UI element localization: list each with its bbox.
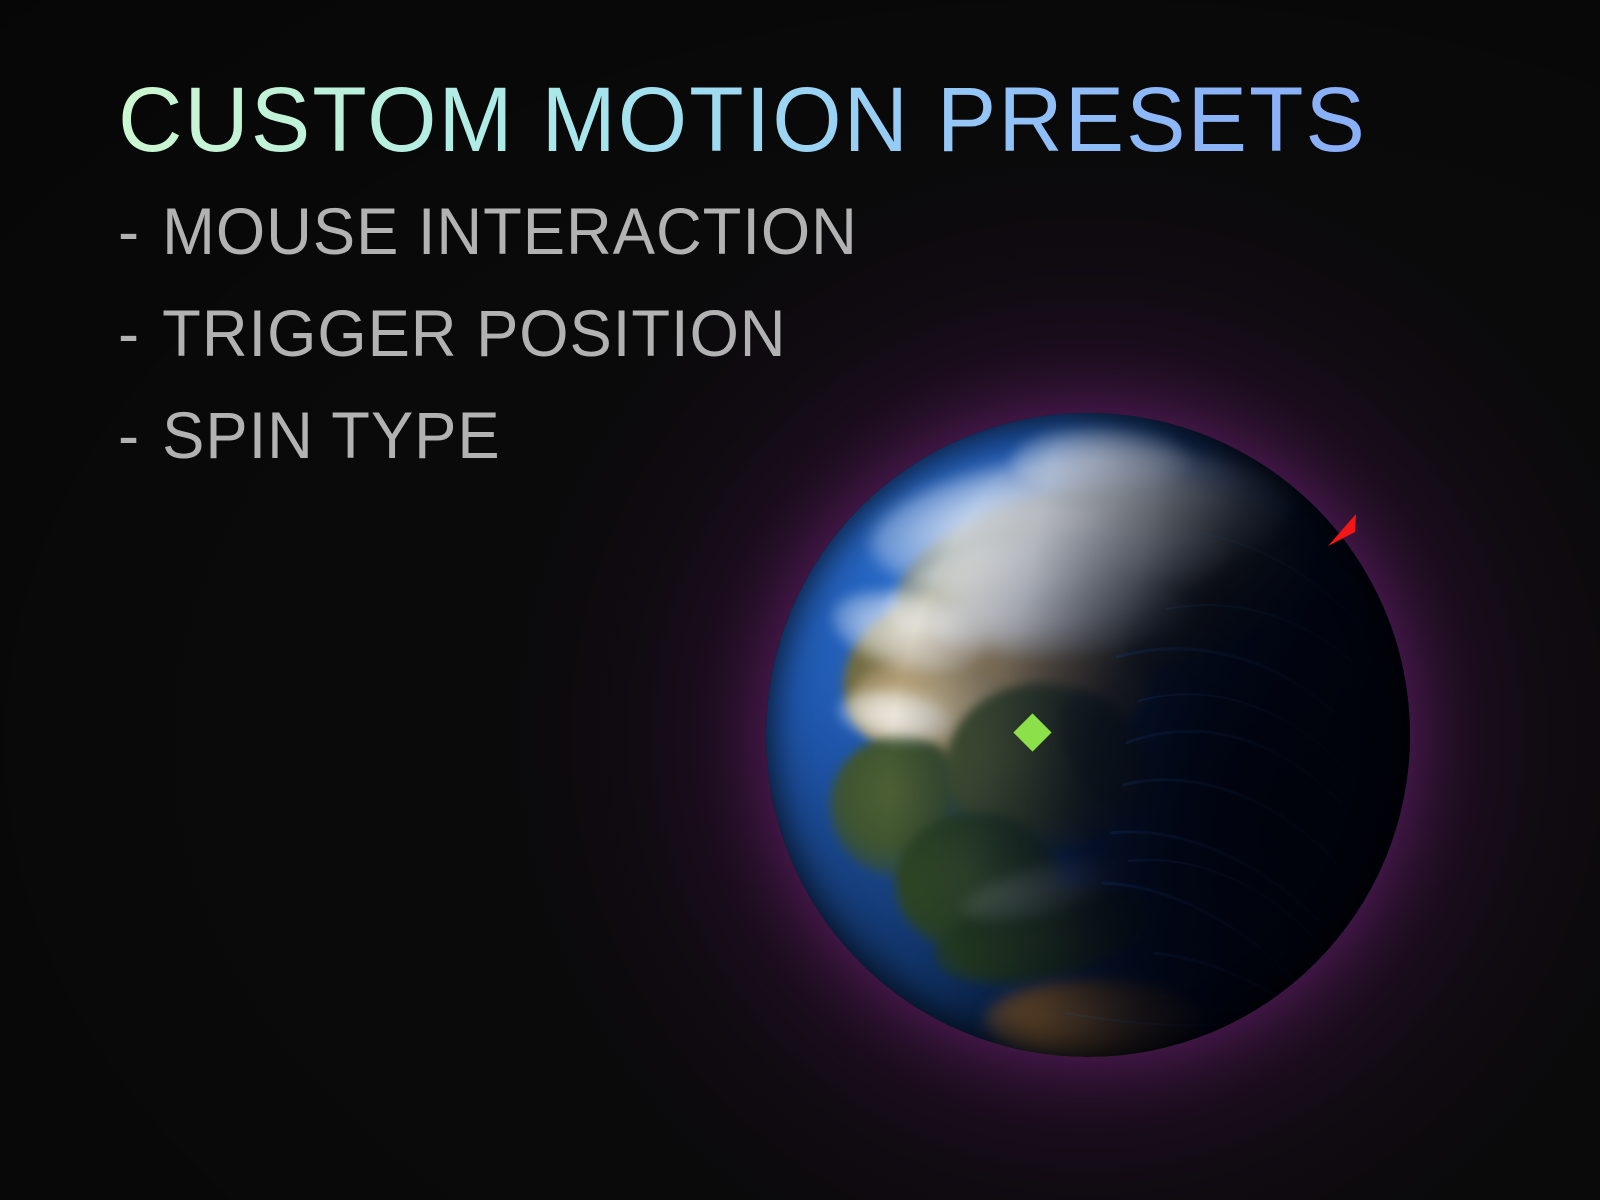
earth-globe[interactable] [766, 413, 1410, 1057]
bullet-label: MOUSE INTERACTION [162, 198, 858, 264]
list-item: - SPIN TYPE [118, 402, 1385, 468]
bullet-dash-icon: - [118, 198, 162, 264]
page-title: CUSTOM MOTION PRESETS [118, 74, 1398, 168]
globe-sphere [766, 413, 1410, 1057]
slide-text-block: CUSTOM MOTION PRESETS - MOUSE INTERACTIO… [118, 74, 1438, 468]
bullet-dash-icon: - [118, 402, 162, 468]
slide-canvas: CUSTOM MOTION PRESETS - MOUSE INTERACTIO… [0, 0, 1600, 1200]
bullet-dash-icon: - [118, 300, 162, 366]
bullet-list: - MOUSE INTERACTION - TRIGGER POSITION -… [118, 198, 1438, 468]
list-item: - TRIGGER POSITION [118, 300, 1385, 366]
bullet-label: SPIN TYPE [162, 402, 500, 468]
globe-rim-shadow [766, 413, 1410, 1057]
list-item: - MOUSE INTERACTION [118, 198, 1385, 264]
mouse-cursor-marker[interactable] [1324, 510, 1358, 550]
bullet-label: TRIGGER POSITION [162, 300, 786, 366]
